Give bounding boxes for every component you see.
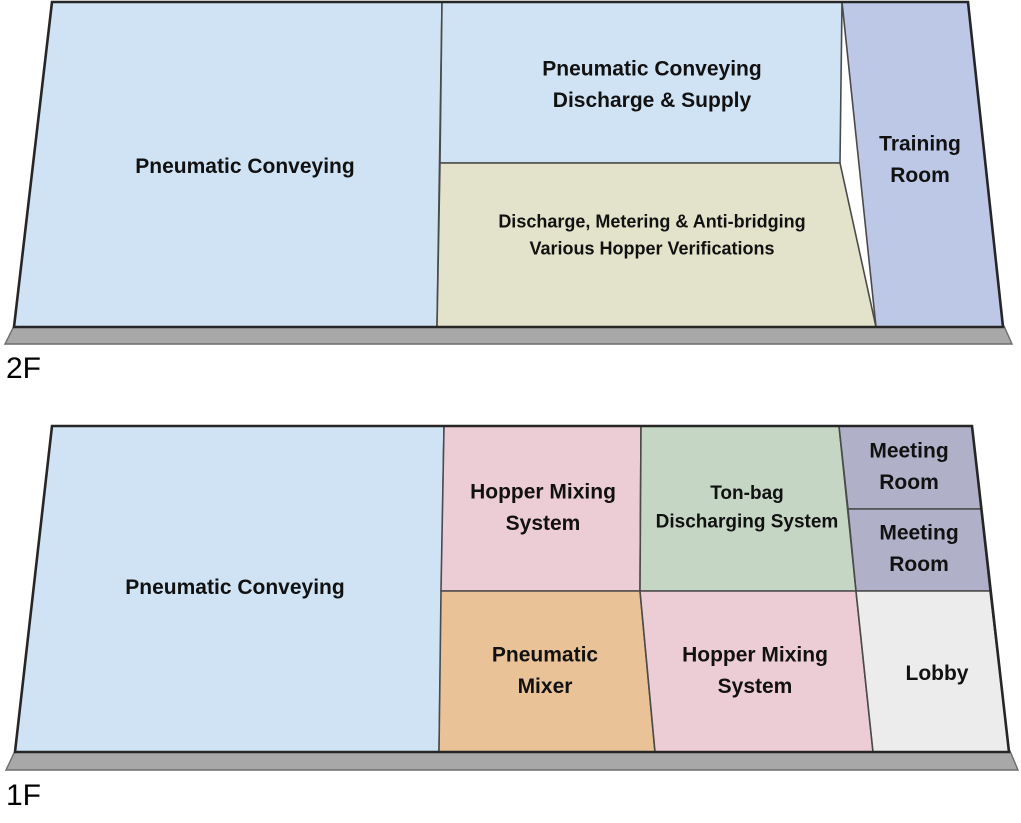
floor-slab-1f <box>6 751 1018 770</box>
room-ton-bag-discharging-system[interactable] <box>640 426 856 591</box>
room-pneumatic-conveying-2f[interactable] <box>14 2 442 327</box>
room-hopper-mixing-system-lower[interactable] <box>640 591 873 752</box>
floor-slab-2f <box>5 326 1012 344</box>
room-lobby[interactable] <box>856 591 1009 752</box>
room-training-room[interactable] <box>842 2 1003 327</box>
floor-group-2f: Pneumatic Conveying Pneumatic ConveyingD… <box>5 2 1012 385</box>
room-meeting-room-upper[interactable] <box>839 426 981 509</box>
room-pneumatic-conveying-discharge-supply[interactable] <box>440 2 842 163</box>
floor-tag-1f: 1F <box>6 779 41 812</box>
floor-plan-diagram: Pneumatic Conveying Pneumatic ConveyingD… <box>0 0 1021 823</box>
room-pneumatic-conveying-1f[interactable] <box>15 426 444 752</box>
floor-group-1f: Pneumatic Conveying Hopper MixingSystem … <box>6 426 1018 812</box>
floor-tag-2f: 2F <box>6 352 41 385</box>
room-pneumatic-mixer[interactable] <box>439 591 655 752</box>
room-hopper-mixing-system-upper[interactable] <box>441 426 641 591</box>
room-discharge-metering-anti-bridging[interactable] <box>437 163 876 327</box>
room-meeting-room-lower[interactable] <box>848 509 990 591</box>
